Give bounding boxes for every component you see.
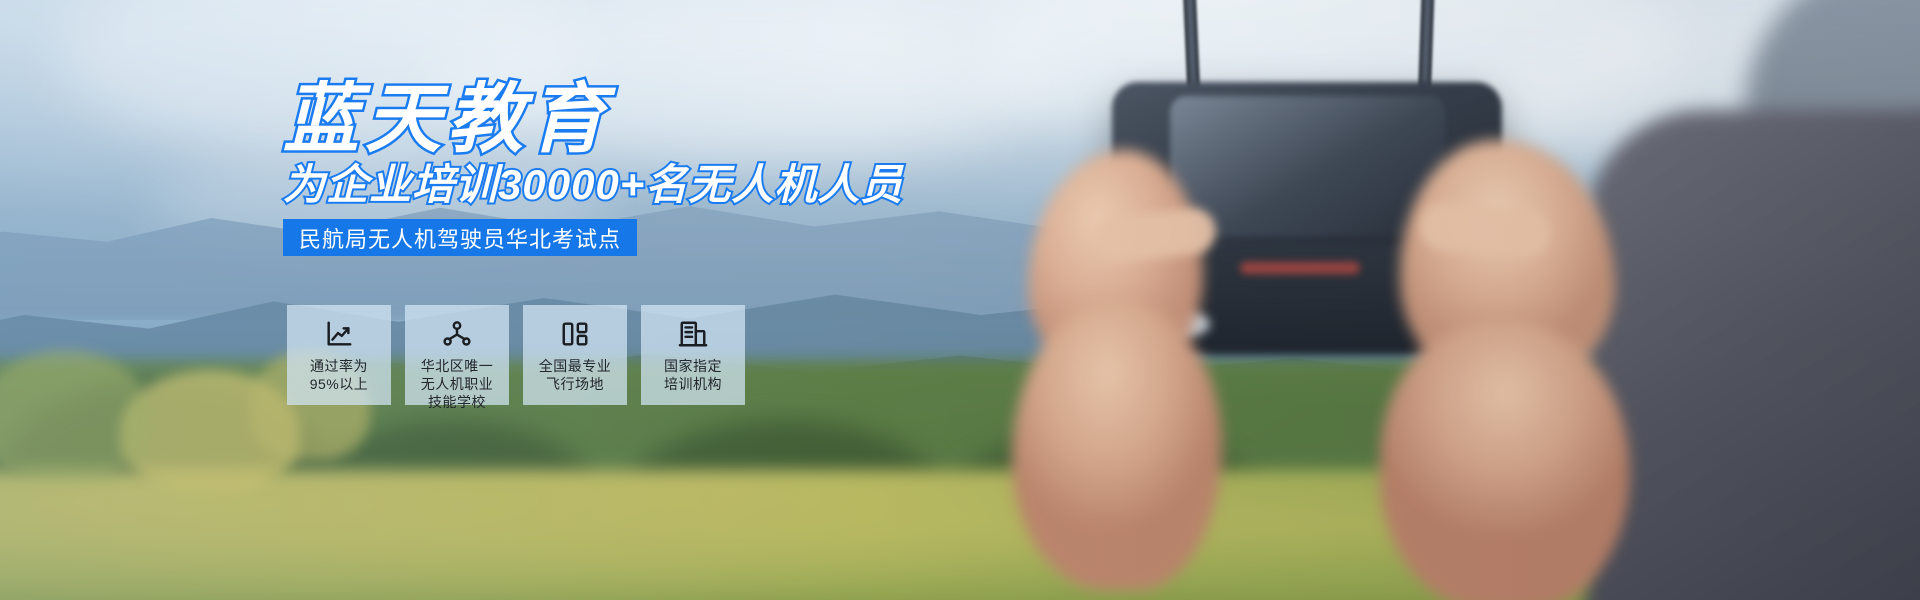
hero-banner: 蓝天教育 为企业培训30000+名无人机人员 民航局无人机驾驶员华北考试点 通过… [0,0,1920,600]
building-icon [678,319,708,349]
feature-card-label: 全国最专业 飞行场地 [539,357,612,393]
network-nodes-icon [442,319,472,349]
feature-card-pass-rate[interactable]: 通过率为 95%以上 [287,305,391,405]
trending-up-chart-icon [324,319,354,349]
feature-card-label: 华北区唯一 无人机职业 技能学校 [421,357,494,411]
feature-card-label: 国家指定 培训机构 [664,357,722,393]
feature-card-flight-field[interactable]: 全国最专业 飞行场地 [523,305,627,405]
banner-title: 蓝天教育 [283,82,611,158]
feature-card-list: 通过率为 95%以上 华北区唯一 无人机职业 技能学校 [287,305,745,405]
banner-subtitle: 为企业培训30000+名无人机人员 [283,164,903,206]
feature-card-label: 通过率为 95%以上 [310,357,369,393]
feature-card-only-school[interactable]: 华北区唯一 无人机职业 技能学校 [405,305,509,405]
book-open-icon [560,319,590,349]
feature-card-national-institute[interactable]: 国家指定 培训机构 [641,305,745,405]
banner-content: 蓝天教育 为企业培训30000+名无人机人员 民航局无人机驾驶员华北考试点 通过… [0,0,1920,600]
certification-badge: 民航局无人机驾驶员华北考试点 [283,219,637,256]
